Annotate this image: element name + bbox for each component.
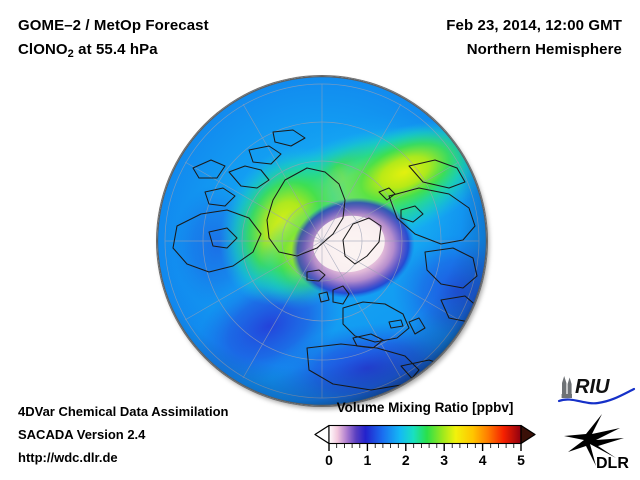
colorbar-low-cap — [315, 426, 329, 444]
riu-wordmark: RIU — [575, 376, 610, 398]
footer-line-version: SACADA Version 2.4 — [18, 427, 145, 442]
colorbar-tick-label: 0 — [325, 452, 333, 467]
species-level-subtitle: ClONO2 at 55.4 hPa — [18, 41, 158, 58]
colorbar-tick-label: 2 — [402, 452, 410, 467]
pressure-level-text: at 55.4 hPa — [74, 41, 158, 58]
colorbar-tick-label: 5 — [517, 452, 525, 467]
colorbar-tick-label: 3 — [440, 452, 448, 467]
colorbar: 0 1 2 3 4 5 — [313, 423, 537, 467]
hemisphere-label: Northern Hemisphere — [467, 41, 622, 58]
dlr-wordmark: DLR — [596, 455, 629, 472]
riu-logo: RIU — [556, 372, 636, 408]
species-subscript: 2 — [68, 48, 74, 60]
footer-line-assimilation: 4DVar Chemical Data Assimilation — [18, 404, 229, 419]
page-title: GOME–2 / MetOp Forecast — [18, 17, 209, 34]
globe-map — [157, 76, 487, 406]
colorbar-tick-label: 4 — [479, 452, 487, 467]
field-layer — [157, 76, 487, 406]
timestamp: Feb 23, 2014, 12:00 GMT — [446, 17, 622, 34]
species-name: ClONO — [18, 41, 68, 58]
footer-line-url[interactable]: http://wdc.dlr.de — [18, 450, 118, 465]
dlr-logo: DLR — [562, 412, 636, 472]
colorbar-title: Volume Mixing Ratio [ppbv] — [313, 400, 537, 415]
orthographic-projection — [157, 76, 487, 406]
colorbar-tick-label: 1 — [364, 452, 372, 467]
colorbar-high-cap — [521, 426, 535, 444]
cathedral-spires-icon — [562, 376, 572, 398]
